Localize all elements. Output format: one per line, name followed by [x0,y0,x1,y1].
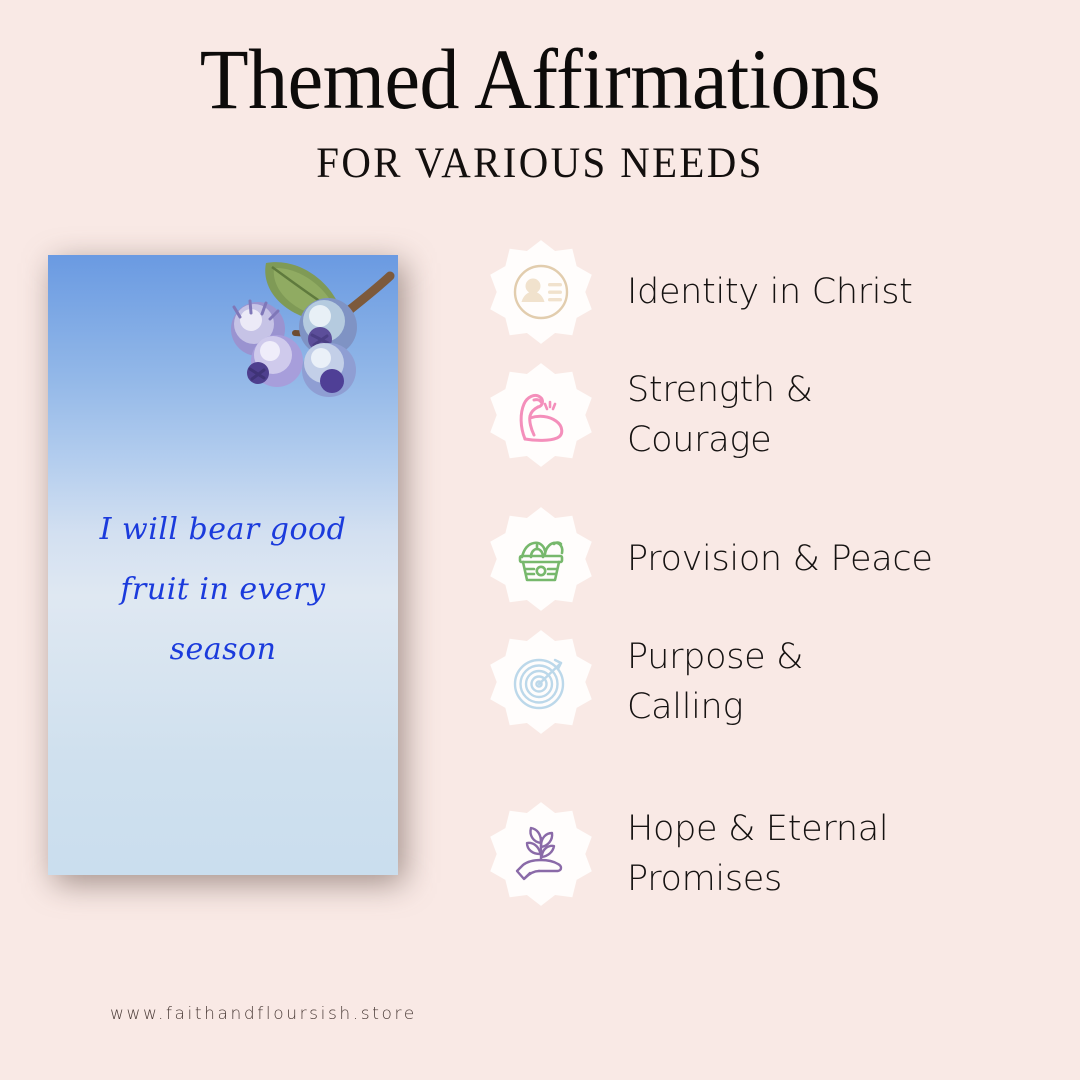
feature-label-strength-and-courage: Strength & Courage [627,365,813,465]
badge-strength-and-courage [487,361,595,469]
page-title: Themed Affirmations [38,36,1042,122]
footer-website-url[interactable]: www.faithandfloursish.store [110,1004,417,1024]
feature-row-purpose-and-calling[interactable]: Purpose & Calling [487,628,1047,736]
feature-row-strength-and-courage[interactable]: Strength & Courage [487,361,1047,469]
badge-hope-and-eternal-promises [487,800,595,908]
card-surface: I will bear good fruit in every season [48,255,398,875]
feature-row-identity-in-christ[interactable]: Identity in Christ [487,238,1047,346]
feature-label-identity-in-christ: Identity in Christ [627,267,913,317]
page-subtitle: FOR VARIOUS NEEDS [27,142,1053,185]
badge-purpose-and-calling [487,628,595,736]
card-quote-text: I will bear good fruit in every season [48,500,398,680]
hand-holding-plant-icon [511,824,571,884]
grocery-basket-icon [511,529,571,589]
target-arrow-icon [511,652,571,712]
affirmation-card: I will bear good fruit in every season [48,255,398,875]
flexed-bicep-icon [511,385,571,445]
id-card-person-icon [511,262,571,322]
blueberry-sprig-watercolor-icon [194,255,398,406]
badge-provision-and-peace [487,505,595,613]
feature-label-purpose-and-calling: Purpose & Calling [627,632,803,732]
feature-row-hope-and-eternal-promises[interactable]: Hope & Eternal Promises [487,800,1047,908]
badge-identity-in-christ [487,238,595,346]
feature-row-provision-and-peace[interactable]: Provision & Peace [487,505,1047,613]
feature-label-hope-and-eternal-promises: Hope & Eternal Promises [627,804,888,904]
header: Themed Affirmations FOR VARIOUS NEEDS [0,0,1080,185]
feature-label-provision-and-peace: Provision & Peace [627,534,933,584]
